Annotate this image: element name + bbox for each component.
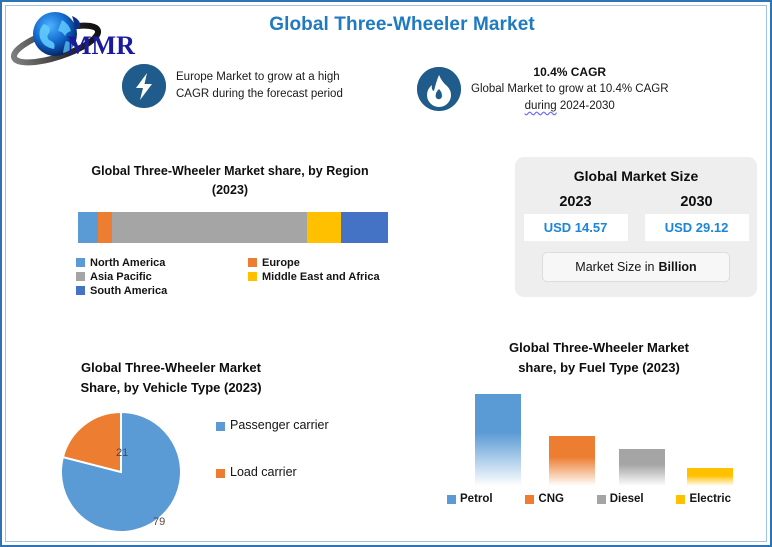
legend-swatch-icon [76,286,85,295]
pie-value-label-load: 21 [116,447,128,459]
page-title: Global Three-Wheeler Market [252,14,552,36]
pie-value-label-passenger: 79 [153,516,165,528]
callout-europe: Europe Market to grow at a high CAGR dur… [122,64,343,108]
flame-icon [417,67,461,111]
legend-swatch-icon [525,495,534,504]
region-legend-label: Asia Pacific [90,271,152,283]
callout-cagr: 10.4% CAGR Global Market to grow at 10.4… [417,64,669,115]
legend-swatch-icon [676,495,685,504]
legend-swatch-icon [76,258,85,267]
svg-text:MMR: MMR [67,31,135,60]
pie-plot-area: 79 21 Passenger carrierLoad carrier [36,411,366,539]
callout-cagr-line1: Global Market to grow at 10.4% CAGR [471,81,669,98]
pie-title-line1: Global Three-Wheeler Market [36,358,306,378]
callout-europe-line2: CAGR during the forecast period [176,86,343,103]
infographic-page: MMR Global Three-Wheeler Market Europe M… [0,0,772,547]
chart-region-share: Global Three-Wheeler Market share, by Re… [54,162,402,297]
legend-swatch-icon [76,272,85,281]
fuel-title-line2: share, by Fuel Type (2023) [439,358,759,378]
region-title-line2: (2023) [54,181,406,200]
global-market-size-card: Global Market Size 2023 2030 USD 14.57 U… [515,157,757,297]
region-chart-title: Global Three-Wheeler Market share, by Re… [54,162,406,200]
callout-cagr-text: 10.4% CAGR Global Market to grow at 10.4… [471,64,669,115]
fuel-legend-label: CNG [538,493,564,505]
fuel-plot-area [439,390,739,486]
pie-chart-title: Global Three-Wheeler Market Share, by Ve… [36,358,306,397]
callout-cagr-line2: during [525,100,557,112]
pie-title-line2: Share, by Vehicle Type (2023) [36,378,306,398]
region-legend-label: Europe [262,257,300,269]
fuel-bar-petrol [475,394,521,486]
fuel-legend-label: Petrol [460,493,493,505]
globe-logo-icon: MMR [10,8,160,70]
region-legend-label: North America [90,257,165,269]
region-segment-south-america [341,212,388,243]
region-legend-item: Middle East and Africa [248,271,408,283]
lightning-bolt-icon [122,64,166,108]
callout-europe-line1: Europe Market to grow at a high [176,69,343,86]
fuel-legend-label: Electric [689,493,731,505]
fuel-legend-label: Diesel [610,493,644,505]
region-title-line1: Global Three-Wheeler Market share, by Re… [54,162,406,181]
pie-svg [56,411,186,537]
legend-swatch-icon [248,258,257,267]
region-legend-item: South America [76,285,248,297]
chart-vehicle-type-share: Global Three-Wheeler Market Share, by Ve… [36,358,366,539]
market-size-unit-text: Market Size in [575,260,654,274]
market-size-unit-note: Market Size in Billion [542,252,730,282]
region-legend-item: Asia Pacific [76,271,248,283]
fuel-chart-title: Global Three-Wheeler Market share, by Fu… [439,338,759,378]
region-legend-label: Middle East and Africa [262,271,380,283]
region-segment-europe [98,212,112,243]
market-size-values: USD 14.57 USD 29.12 [515,214,757,241]
fuel-legend-item: Electric [676,493,731,505]
market-size-value-2023: USD 14.57 [524,214,628,241]
fuel-bar-diesel [619,449,665,487]
chart-fuel-type-share: Global Three-Wheeler Market share, by Fu… [439,338,759,505]
pie-legend-label: Passenger carrier [230,417,326,434]
region-legend-label: South America [90,285,167,297]
market-size-unit-bold: Billion [659,260,697,274]
region-segment-asia-pacific [112,212,307,243]
market-size-year-2030: 2030 [645,194,749,210]
legend-swatch-icon [216,422,225,431]
region-segment-middle-east-and-africa [307,212,341,243]
region-segment-north-america [78,212,98,243]
region-stacked-bar [78,212,388,243]
pie-legend: Passenger carrierLoad carrier [216,417,326,511]
region-legend-item: Europe [248,257,408,269]
fuel-legend: PetrolCNGDieselElectric [439,493,739,505]
market-size-year-2023: 2023 [524,194,628,210]
fuel-title-line1: Global Three-Wheeler Market [439,338,759,358]
fuel-bar-cng [549,436,595,487]
market-size-title: Global Market Size [515,157,757,184]
callout-europe-text: Europe Market to grow at a high CAGR dur… [176,69,343,102]
legend-swatch-icon [216,469,225,478]
market-size-value-2030: USD 29.12 [645,214,749,241]
fuel-bar-electric [687,468,733,486]
market-size-years: 2023 2030 [515,194,757,210]
legend-swatch-icon [447,495,456,504]
fuel-legend-item: Petrol [447,493,493,505]
fuel-legend-item: Diesel [597,493,644,505]
legend-swatch-icon [248,272,257,281]
callout-cagr-heading: 10.4% CAGR [471,64,669,81]
pie-legend-item: Load carrier [216,464,326,481]
callout-cagr-line2-wrap: during 2024-2030 [471,98,669,115]
legend-swatch-icon [597,495,606,504]
pie-legend-label: Load carrier [230,464,326,481]
region-legend-item: North America [76,257,248,269]
pie-legend-item: Passenger carrier [216,417,326,434]
fuel-legend-item: CNG [525,493,564,505]
region-legend: North AmericaEuropeAsia PacificMiddle Ea… [76,257,396,297]
callout-cagr-line3: 2024-2030 [560,100,615,112]
mmr-logo: MMR [10,8,160,70]
